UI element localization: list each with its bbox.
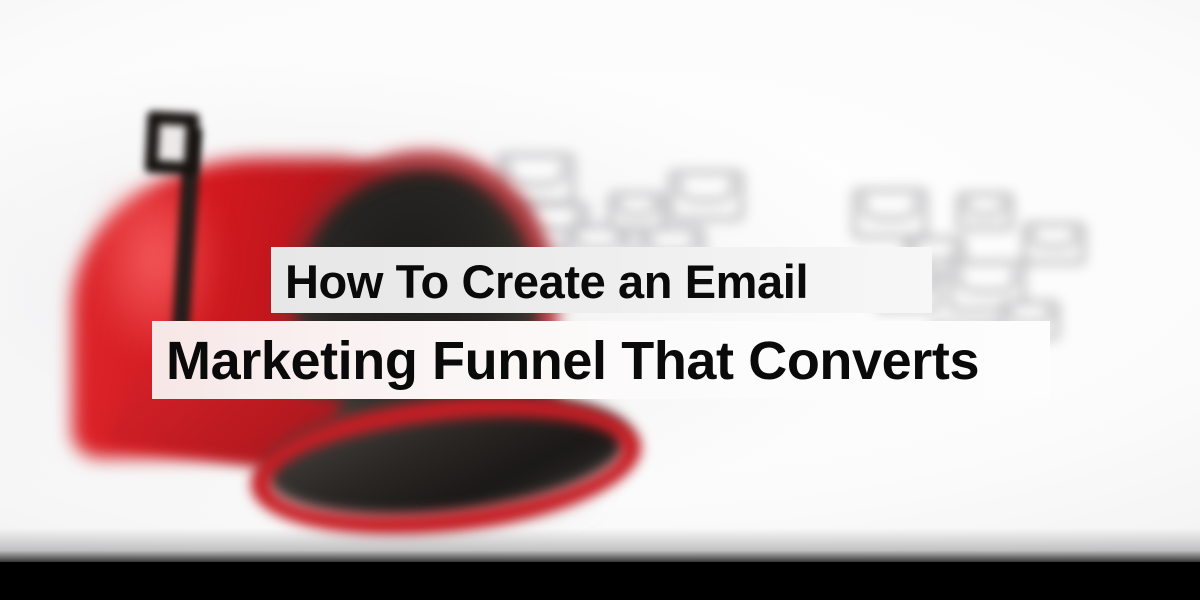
headline-line-2: Marketing Funnel That Converts [152,321,1050,399]
featured-image-canvas: How To Create an Email Marketing Funnel … [0,0,1200,600]
envelope-right-top-icon [852,188,928,239]
envelope-top-mid-icon [668,170,744,221]
envelope-right-mid-b-icon [956,192,1014,231]
headline-line-1-text: How To Create an Email [285,258,808,305]
bottom-gradient-fade [0,528,1200,564]
bottom-black-bar [0,562,1200,600]
mailbox-flag-icon [144,111,199,176]
envelope-far-right-a-icon [1022,222,1086,265]
headline-line-2-text: Marketing Funnel That Converts [166,334,979,388]
headline-line-1: How To Create an Email [271,247,932,313]
